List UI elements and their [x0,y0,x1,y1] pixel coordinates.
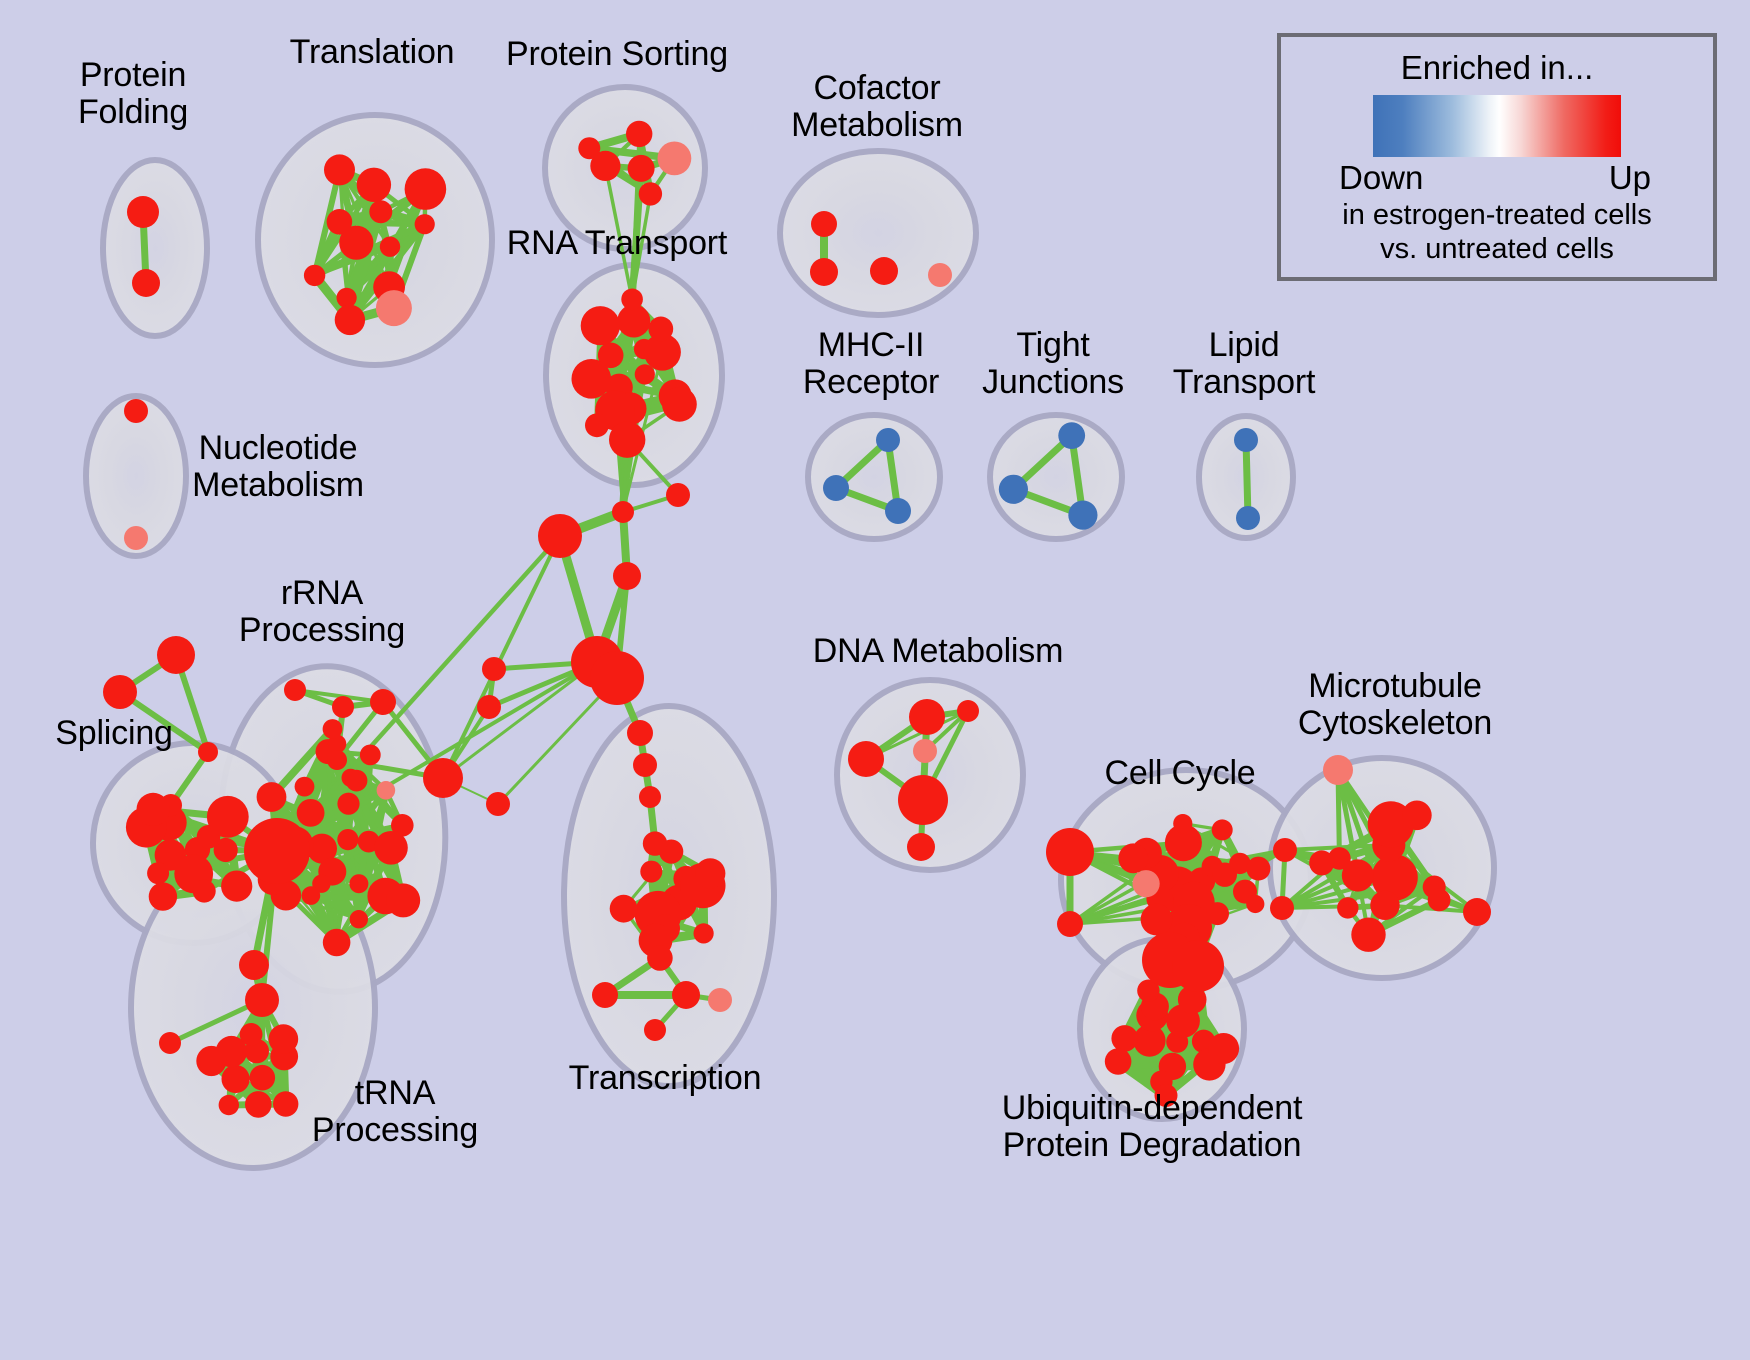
network-node [1234,428,1258,452]
network-node [124,526,148,550]
network-node [648,317,673,342]
network-node [297,799,325,827]
network-node [612,501,634,523]
cluster-label-mhc-ii-receptor: MHC-II Receptor [803,327,939,400]
cluster-label-splicing: Splicing [55,715,172,752]
legend-color-bar [1373,95,1621,157]
network-node [870,257,898,285]
network-node [346,770,368,792]
network-node [377,781,396,800]
network-node [913,739,937,763]
network-node [222,1065,250,1093]
network-node [1351,918,1385,952]
network-node [639,182,662,205]
network-node [627,720,653,746]
network-node [1173,814,1192,833]
network-node [694,923,714,943]
network-node [1246,857,1270,881]
network-node [357,168,391,202]
network-node [848,741,884,777]
network-node [423,758,463,798]
network-node [1428,889,1451,912]
network-node [257,782,287,812]
network-node [898,775,948,825]
network-node [647,945,673,971]
network-node [626,121,652,147]
legend-high-label: Up [1609,159,1651,197]
legend-caption-line-2: vs. untreated cells [1281,233,1713,265]
network-node [360,745,381,766]
network-node [157,636,195,674]
network-node [327,750,347,770]
network-node [127,196,159,228]
network-node [999,475,1028,504]
network-node [538,514,582,558]
network-node [273,1091,298,1116]
cluster-ellipse [808,415,940,539]
network-node [249,1065,275,1091]
network-node [613,562,641,590]
cluster-label-microtubule-cytoskeleton: Microtubule Cytoskeleton [1298,668,1492,741]
network-node [708,988,732,1012]
network-node [1141,904,1173,936]
network-node [876,428,900,452]
network-node [391,814,414,837]
cluster-label-protein-folding: Protein Folding [78,57,188,130]
network-node [909,699,945,735]
cluster-ellipse [780,151,976,315]
network-node [621,289,643,311]
network-node [1208,1033,1239,1064]
cluster-label-translation: Translation [290,34,455,71]
network-node [823,475,849,501]
cluster-ellipse [103,160,207,336]
network-node [193,880,216,903]
cluster-label-transcription: Transcription [569,1060,762,1097]
network-node [643,831,667,855]
network-node [327,209,353,235]
network-node [214,838,238,862]
network-node [1309,850,1334,875]
cluster-label-rna-transport: RNA Transport [507,225,727,262]
legend-box: Enriched in... Down Up in estrogen-treat… [1277,33,1717,281]
network-node [1236,506,1260,530]
network-node [1212,819,1233,840]
network-node [1046,828,1094,876]
network-node [581,306,620,345]
network-node [386,883,420,917]
network-node [376,290,412,326]
network-node [245,983,279,1017]
cluster-label-cofactor-metabolism: Cofactor Metabolism [791,70,963,143]
network-node [639,786,661,808]
cluster-label-dna-metabolism: DNA Metabolism [813,633,1063,670]
network-node [1273,838,1297,862]
legend-endpoints: Down Up [1347,159,1647,197]
network-node [672,981,700,1009]
network-node [245,1091,272,1118]
network-node [369,200,392,223]
network-edge [443,536,560,778]
network-node [324,154,355,185]
network-node [415,214,435,234]
network-node [610,895,638,923]
network-node [585,413,609,437]
network-node [1105,1048,1132,1075]
network-node [1111,1025,1138,1052]
network-node [350,910,368,928]
cluster-label-ubiquitin-protein-degradation: Ubiquitin-dependent Protein Degradation [1002,1090,1303,1163]
network-node [240,1023,263,1046]
network-node [633,753,657,777]
network-node [137,793,170,826]
enrichment-map-figure: Protein FoldingTranslationProtein Sortin… [0,0,1750,1360]
network-node [380,237,400,257]
network-node [1323,755,1353,785]
network-node [198,742,218,762]
network-node [337,793,359,815]
cluster-label-lipid-transport: Lipid Transport [1173,327,1315,400]
network-node [572,359,612,399]
network-node [695,858,725,888]
network-node [662,387,697,422]
network-node [666,483,690,507]
network-node [810,258,838,286]
network-node [1402,801,1432,831]
network-node [609,422,645,458]
network-node [159,1032,181,1054]
network-node [337,288,357,308]
network-node [635,364,655,384]
network-node [885,498,911,524]
network-node [295,777,315,797]
legend-caption-line-1: in estrogen-treated cells [1281,199,1713,231]
network-node [269,1024,299,1054]
network-node [644,1019,666,1041]
network-node [1133,870,1160,897]
network-node [219,1095,239,1115]
cluster-label-trna-processing: tRNA Processing [312,1075,478,1148]
network-node [1463,898,1491,926]
network-node [284,679,306,701]
network-node [207,796,249,838]
network-node [1172,940,1224,992]
network-node [149,882,177,910]
network-node [957,700,979,722]
network-node [928,263,952,287]
cluster-label-tight-junctions: Tight Junctions [982,327,1124,400]
network-node [482,657,506,681]
network-node [196,1046,226,1076]
network-node [1058,422,1085,449]
network-node [658,142,692,176]
network-node [147,862,169,884]
network-node [302,886,321,905]
network-node [337,829,358,850]
network-node [332,696,354,718]
network-node [132,269,160,297]
network-node [590,651,644,705]
network-node [370,689,396,715]
cluster-label-protein-sorting: Protein Sorting [506,36,728,73]
network-node [592,982,618,1008]
network-node [221,871,252,902]
network-node [349,874,368,893]
network-node [239,950,269,980]
network-node [103,675,137,709]
network-node [405,168,447,210]
network-node [1246,895,1264,913]
network-node [124,399,148,423]
network-node [1118,843,1148,873]
network-node [244,818,310,884]
legend-title: Enriched in... [1281,49,1713,87]
network-node [811,211,837,237]
network-node [1057,911,1083,937]
network-node [486,792,510,816]
network-node [907,833,935,861]
network-node [335,305,365,335]
cluster-label-nucleotide-metabolism: Nucleotide Metabolism [192,430,364,503]
network-node [323,929,351,957]
cluster-label-rrna-processing: rRNA Processing [239,575,405,648]
network-node [1270,896,1294,920]
network-node [578,137,600,159]
network-node [323,719,343,739]
network-edge [443,662,597,778]
cluster-label-cell-cycle: Cell Cycle [1104,755,1255,792]
legend-low-label: Down [1339,159,1423,197]
network-node [640,861,662,883]
network-node [1068,500,1097,529]
network-node [1337,897,1358,918]
network-node [304,265,325,286]
network-node [628,155,655,182]
network-node [477,695,501,719]
network-node [1370,891,1399,920]
